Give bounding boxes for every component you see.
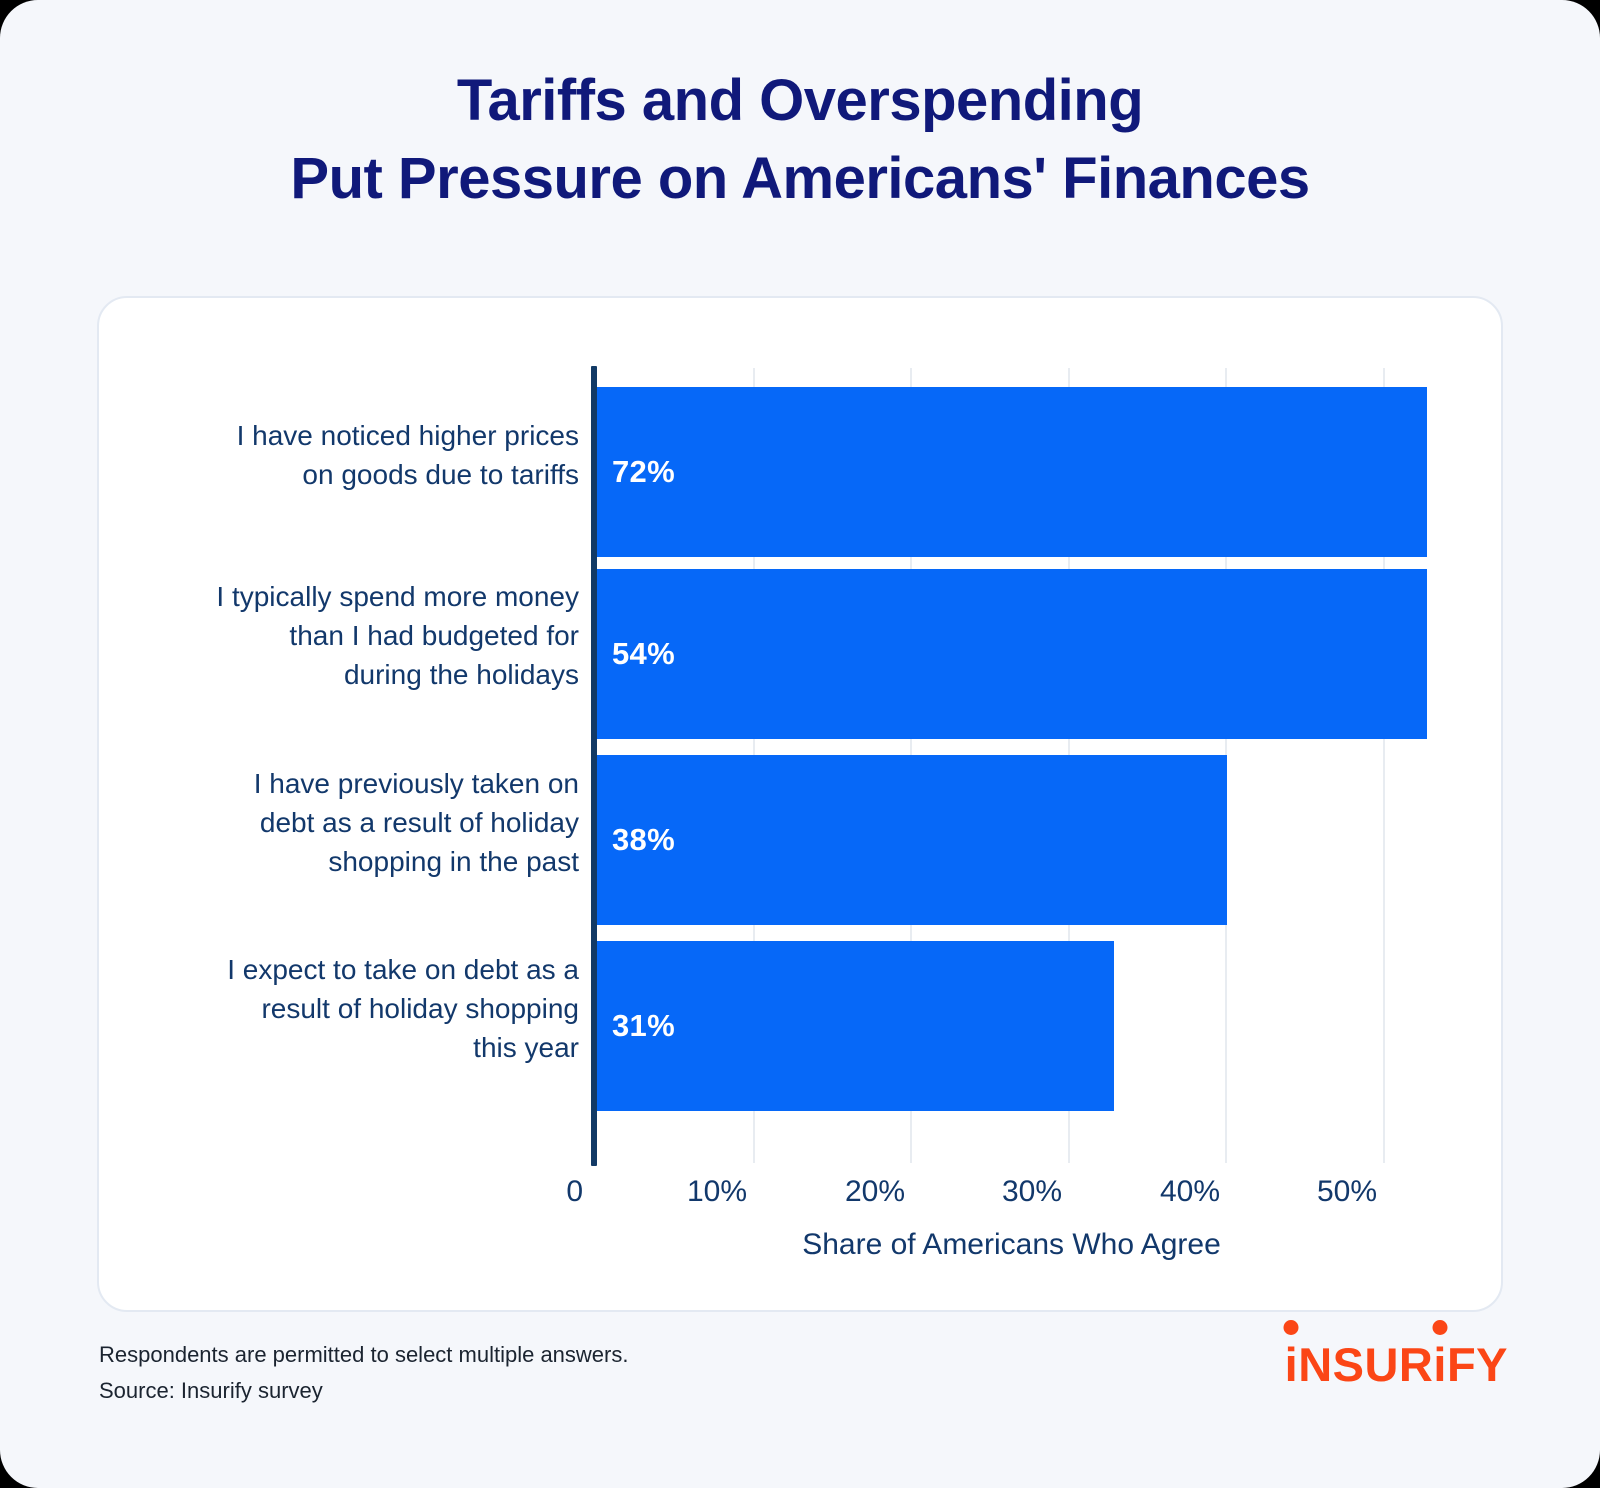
footer-note: Respondents are permitted to select mult… (99, 1337, 628, 1409)
bar-value-1: 54% (612, 636, 675, 672)
category-label-line: debt as a result of holiday (109, 803, 579, 842)
category-label-line: during the holidays (109, 655, 579, 694)
xtick-label-30: 30% (1002, 1175, 1062, 1209)
bar-0[interactable] (596, 387, 1427, 557)
bar-1[interactable] (596, 569, 1427, 739)
xtick-label-20: 20% (845, 1175, 905, 1209)
category-label-2: I have previously taken on debt as a res… (109, 764, 579, 881)
bar-value-0: 72% (612, 454, 675, 490)
bar-value-3: 31% (612, 1008, 675, 1044)
y-axis-line (591, 366, 597, 1166)
category-label-line: shopping in the past (109, 842, 579, 881)
category-label-line: I have noticed higher prices (109, 416, 579, 455)
page-title-line-2: Put Pressure on Americans' Finances (0, 140, 1600, 218)
category-label-line: I expect to take on debt as a (109, 950, 579, 989)
x-axis-title: Share of Americans Who Agree (596, 1228, 1427, 1262)
category-label-line: on goods due to tariffs (109, 455, 579, 494)
category-label-line: I typically spend more money (109, 577, 579, 616)
logo-i-second: i (1433, 1337, 1447, 1393)
category-label-line: than I had budgeted for (109, 616, 579, 655)
category-label-1: I typically spend more money than I had … (109, 577, 579, 694)
category-label-line: result of holiday shopping (109, 989, 579, 1028)
category-label-line: this year (109, 1028, 579, 1067)
logo-fy: FY (1447, 1338, 1508, 1391)
infographic-page: Tariffs and Overspending Put Pressure on… (0, 0, 1600, 1488)
footer-note-line-1: Respondents are permitted to select mult… (99, 1337, 628, 1373)
xtick-label-50: 50% (1317, 1175, 1377, 1209)
page-title: Tariffs and Overspending Put Pressure on… (0, 62, 1600, 218)
insurify-logo[interactable]: iNSURiFY (1285, 1337, 1508, 1393)
category-label-0: I have noticed higher prices on goods du… (109, 416, 579, 494)
bar-chart-plot: I have noticed higher prices on goods du… (99, 298, 1505, 1314)
logo-nsur: NSUR (1298, 1338, 1433, 1391)
category-label-line: I have previously taken on (109, 764, 579, 803)
xtick-label-0: 0 (566, 1175, 591, 1209)
bar-2[interactable] (596, 755, 1227, 925)
chart-card: I have noticed higher prices on goods du… (97, 296, 1503, 1312)
footer-note-line-2: Source: Insurify survey (99, 1373, 628, 1409)
bar-value-2: 38% (612, 822, 675, 858)
xtick-label-40: 40% (1160, 1175, 1220, 1209)
logo-i-first: i (1285, 1337, 1299, 1393)
page-title-line-1: Tariffs and Overspending (0, 62, 1600, 140)
xtick-label-10: 10% (687, 1175, 747, 1209)
category-label-3: I expect to take on debt as a result of … (109, 950, 579, 1067)
